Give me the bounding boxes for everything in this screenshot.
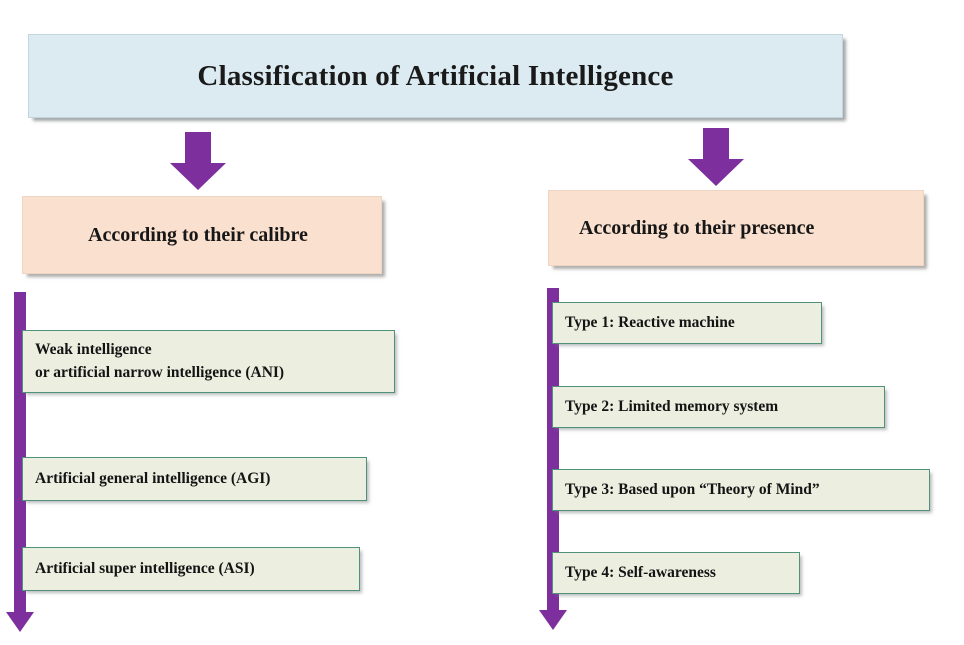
diagram-canvas: Classification of Artificial Intelligenc… (0, 0, 964, 645)
leaf-line-1: Type 1: Reactive machine (565, 312, 821, 334)
leaf-line-1: Type 2: Limited memory system (565, 396, 884, 418)
list-item-asi: Artificial super intelligence (ASI) (22, 547, 360, 591)
leaf-line-2: or artificial narrow intelligence (ANI) (35, 362, 394, 384)
arrow-shaft (703, 128, 729, 160)
category-label-calibre: According to their calibre (88, 224, 308, 247)
arrow-tip (688, 159, 744, 186)
list-item-type-4: Type 4: Self-awareness (552, 552, 800, 594)
leaf-line-1: Type 4: Self-awareness (565, 562, 799, 584)
arrow-shaft (185, 132, 211, 164)
list-item-agi: Artificial general intelligence (AGI) (22, 457, 367, 501)
diagram-title-box: Classification of Artificial Intelligenc… (28, 34, 843, 118)
list-item-type-1: Type 1: Reactive machine (552, 302, 822, 344)
arrow-down-icon-calibre (170, 132, 226, 190)
list-item-type-2: Type 2: Limited memory system (552, 386, 885, 428)
leaf-line-1: Artificial general intelligence (AGI) (35, 468, 366, 490)
category-label-presence: According to their presence (579, 217, 814, 240)
category-box-presence: According to their presence (548, 190, 924, 266)
list-item-ani: Weak intelligence or artificial narrow i… (22, 330, 395, 393)
leaf-line-1: Weak intelligence (35, 339, 394, 361)
page-title: Classification of Artificial Intelligenc… (197, 60, 673, 93)
list-item-type-3: Type 3: Based upon “Theory of Mind” (552, 469, 930, 511)
arrow-down-icon-presence (688, 128, 744, 186)
leaf-line-1: Artificial super intelligence (ASI) (35, 558, 359, 580)
arrow-tip (539, 610, 567, 630)
arrow-tip (170, 163, 226, 190)
category-box-calibre: According to their calibre (22, 196, 382, 274)
leaf-line-1: Type 3: Based upon “Theory of Mind” (565, 479, 929, 501)
arrow-tip (6, 612, 34, 632)
